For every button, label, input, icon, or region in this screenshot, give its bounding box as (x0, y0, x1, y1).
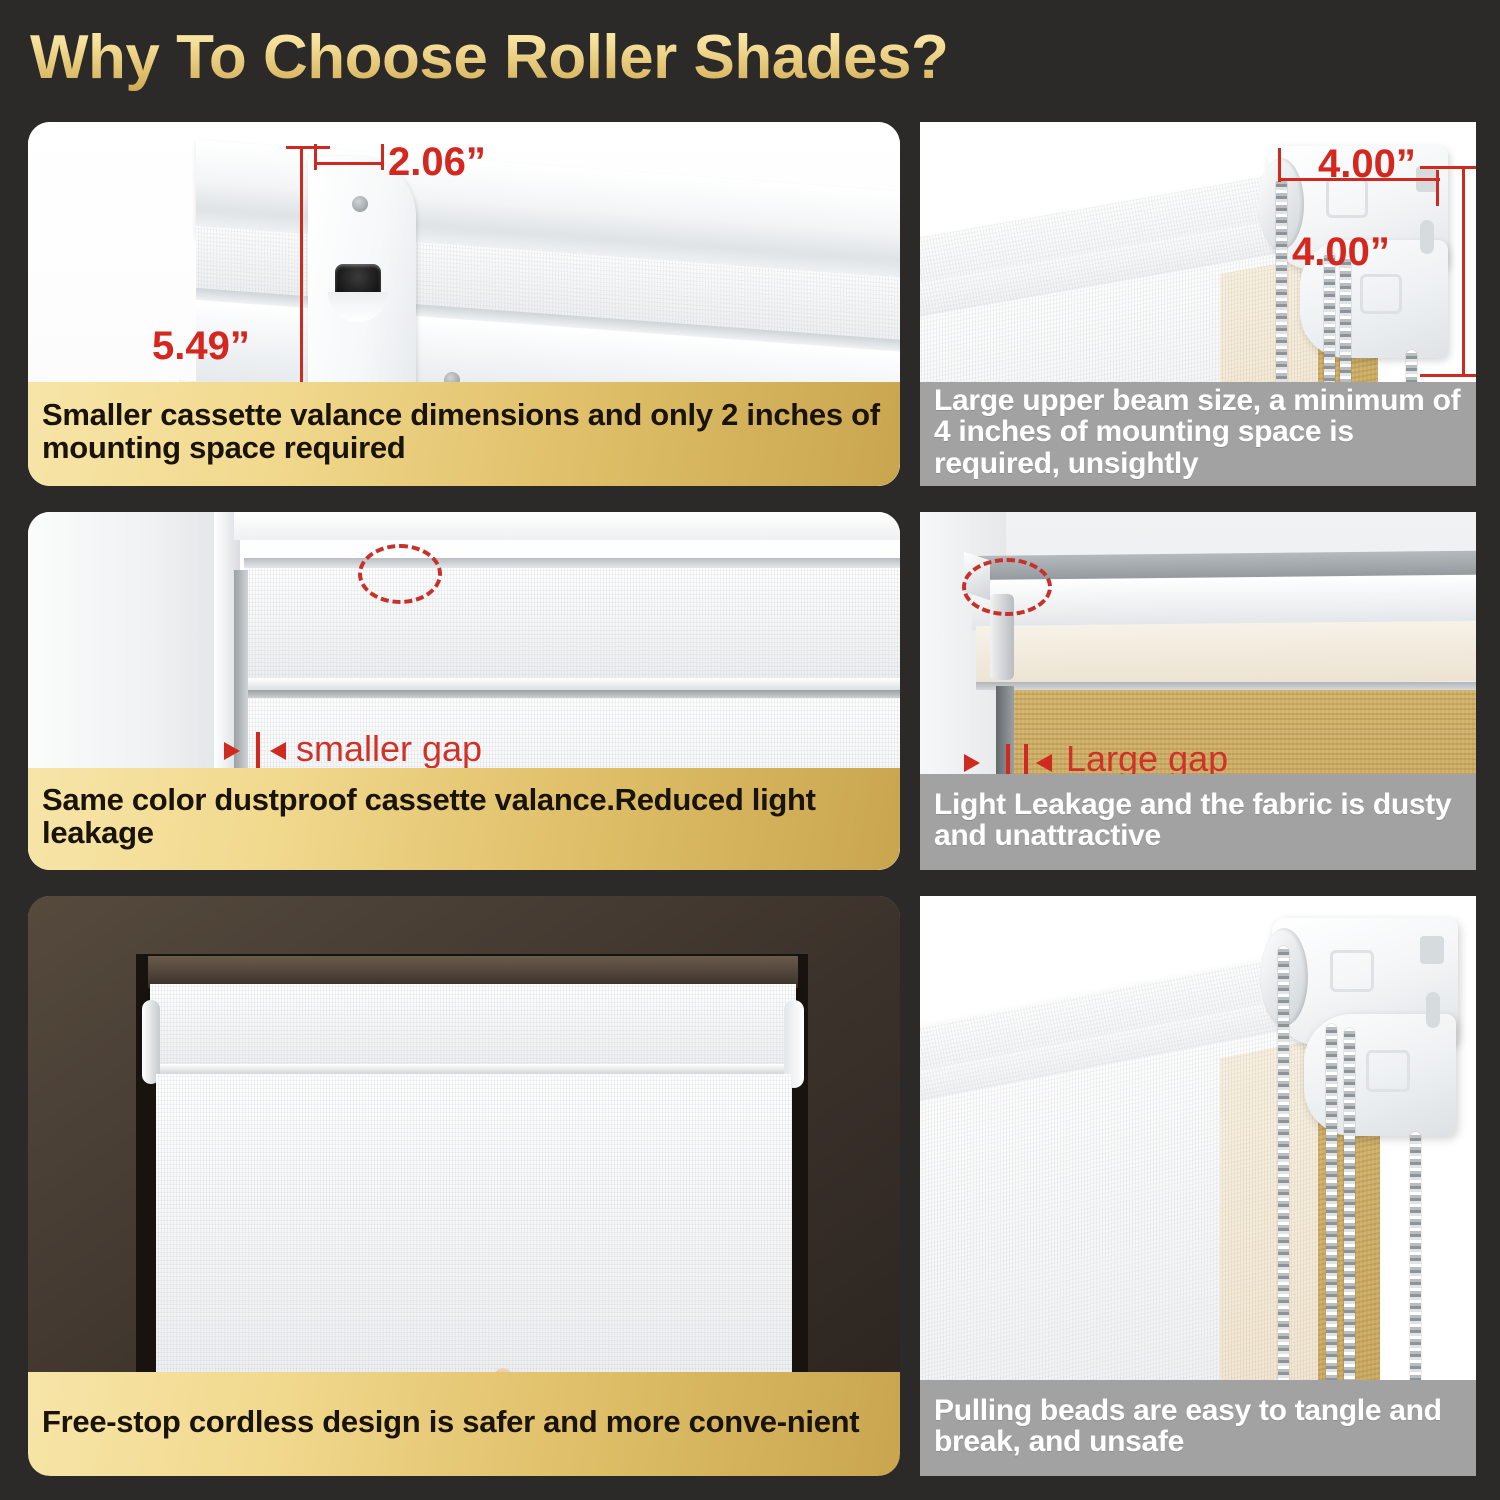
gap-arrow-left (224, 742, 240, 760)
caption-text: Light Leakage and the fabric is dusty an… (934, 789, 1462, 851)
width-dim-line (314, 162, 384, 165)
beam-width-label: 4.00” (1318, 142, 1416, 187)
height-dim-tick-top (286, 146, 330, 149)
caption-text: Free-stop cordless design is safer and m… (42, 1406, 886, 1439)
beam-height-line (1462, 166, 1465, 376)
beam-width-tick-right (1436, 170, 1439, 206)
bracket-notch-2 (1420, 220, 1434, 254)
detail-highlight-circle (358, 544, 442, 604)
panel-top-right: 4.00” 4.00” Large upper beam size, a min… (920, 122, 1476, 486)
panel-bottom-right: Pulling beads are easy to tangle and bre… (920, 896, 1476, 1476)
shade-fabric (156, 1074, 792, 1392)
detail-highlight-circle (962, 558, 1052, 616)
caption-middle-left: Same color dustproof cassette valance.Re… (28, 768, 900, 870)
bracket-emboss-2 (1366, 1050, 1410, 1092)
mounting-screw-upper (352, 196, 368, 212)
cassette-valance (150, 984, 796, 1070)
height-dimension-label: 5.49” (152, 324, 250, 369)
bracket-emboss-2 (1360, 274, 1402, 314)
bracket-notch-1 (1420, 936, 1444, 964)
panel-middle-left: smaller gap Same color dustproof cassett… (28, 512, 900, 870)
cassette-fabric-upper (244, 568, 900, 682)
gap-tick (256, 732, 260, 768)
gap-tick-left (1006, 744, 1010, 778)
width-dim-tick-right (381, 144, 384, 170)
caption-text: Large upper beam size, a minimum of 4 in… (934, 385, 1462, 479)
page-title: Why To Choose Roller Shades? (30, 18, 1130, 98)
panel-bottom-left: Free-stop cordless design is safer and m… (28, 896, 900, 1476)
valance-beige-face (976, 621, 1476, 686)
window-trim-top (234, 512, 900, 540)
gap-arrow-left (964, 754, 980, 772)
caption-bottom-right: Pulling beads are easy to tangle and bre… (920, 1380, 1476, 1476)
valance-end-left (142, 1000, 160, 1084)
panel-top-left: 2.06” 5.49” Smaller cassette valance dim… (28, 122, 900, 486)
caption-text: Smaller cassette valance dimensions and … (42, 399, 886, 465)
gap-tick-right (1024, 744, 1028, 778)
beam-height-label: 4.00” (1292, 230, 1390, 275)
caption-top-left: Smaller cassette valance dimensions and … (28, 382, 900, 486)
gap-arrow-right (1036, 754, 1052, 772)
caption-middle-right: Light Leakage and the fabric is dusty an… (920, 774, 1476, 870)
beam-height-tick-top (1420, 166, 1476, 169)
caption-text: Pulling beads are easy to tangle and bre… (934, 1395, 1462, 1457)
gap-callout-label: smaller gap (296, 728, 482, 770)
width-dimension-label: 2.06” (388, 140, 486, 185)
infographic-root: Why To Choose Roller Shades? 2.06” (0, 0, 1500, 1500)
valance-bottom-edge (976, 682, 1476, 690)
caption-text: Same color dustproof cassette valance.Re… (42, 784, 886, 850)
panel-middle-right: Large gap Light Leakage and the fabric i… (920, 512, 1476, 870)
bracket-emboss-1 (1330, 950, 1374, 992)
bracket-notch-2 (1426, 992, 1440, 1028)
caption-bottom-left: Free-stop cordless design is safer and m… (28, 1372, 900, 1476)
gap-arrow-right (270, 742, 286, 760)
beam-width-tick-left (1278, 148, 1281, 182)
beam-height-tick-bottom (1420, 374, 1476, 377)
caption-top-right: Large upper beam size, a minimum of 4 in… (920, 382, 1476, 486)
